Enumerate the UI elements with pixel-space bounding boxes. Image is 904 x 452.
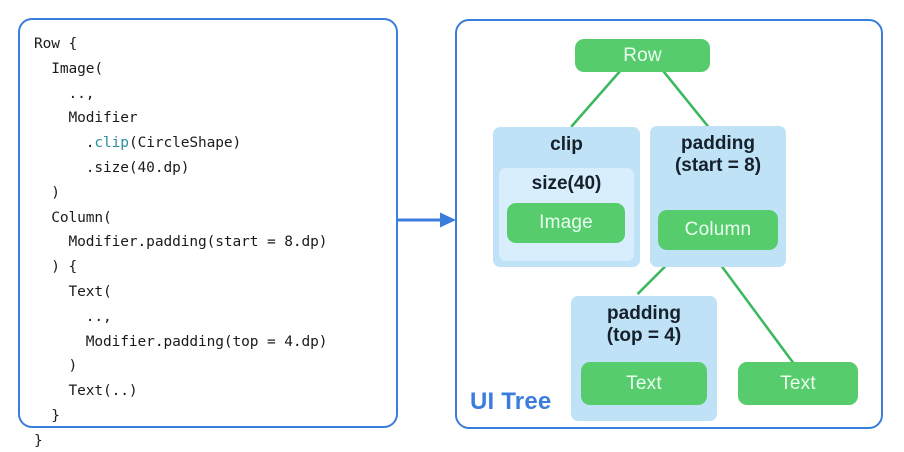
code-line: Text( xyxy=(34,280,390,305)
tree-node-size-modifier[interactable]: size(40) Image xyxy=(499,168,634,261)
code-line: Image( xyxy=(34,57,390,82)
code-panel: Row { Image( .., Modifier .clip(CircleSh… xyxy=(18,18,398,428)
tree-node-clip-label: clip xyxy=(550,134,583,156)
tree-node-text-plain[interactable]: Text xyxy=(738,362,858,405)
code-line: Column( xyxy=(34,206,390,231)
diagram-canvas: Row { Image( .., Modifier .clip(CircleSh… xyxy=(0,0,904,452)
tree-node-text-plain-label: Text xyxy=(780,373,816,395)
code-line: Row { xyxy=(34,32,390,57)
tree-node-text-padded-label: Text xyxy=(626,373,662,395)
code-line: .., xyxy=(34,82,390,107)
code-line: } xyxy=(34,429,390,452)
code-line: Modifier.padding(start = 8.dp) xyxy=(34,230,390,255)
tree-node-padding-start-label-1: padding xyxy=(681,133,755,155)
code-line: Modifier.padding(top = 4.dp) xyxy=(34,330,390,355)
tree-node-image[interactable]: Image xyxy=(507,203,625,243)
tree-node-row-label: Row xyxy=(623,45,662,67)
tree-node-padding-top-label-1: padding xyxy=(607,303,681,325)
code-line: .size(40.dp) xyxy=(34,156,390,181)
code-line: Text(..) xyxy=(34,379,390,404)
tree-node-padding-start-modifier[interactable]: padding (start = 8) Column xyxy=(650,126,786,267)
code-line: ) xyxy=(34,181,390,206)
code-line: ) { xyxy=(34,255,390,280)
code-line: .., xyxy=(34,305,390,330)
ui-tree-caption: UI Tree xyxy=(470,388,551,416)
code-line: } xyxy=(34,404,390,429)
tree-node-text-padded[interactable]: Text xyxy=(581,362,707,405)
tree-node-padding-start-label-2: (start = 8) xyxy=(675,155,761,177)
tree-node-image-label: Image xyxy=(539,212,593,234)
tree-node-padding-top-modifier[interactable]: padding (top = 4) Text xyxy=(571,296,717,421)
code-block: Row { Image( .., Modifier .clip(CircleSh… xyxy=(34,32,390,452)
code-token-highlight: clip xyxy=(94,135,129,151)
ui-tree-panel: Row clip size(40) Image padding (start =… xyxy=(455,19,883,429)
tree-node-padding-top-label-2: (top = 4) xyxy=(607,325,681,347)
code-line: Modifier xyxy=(34,106,390,131)
tree-node-row[interactable]: Row xyxy=(575,39,710,72)
tree-node-clip-modifier[interactable]: clip size(40) Image xyxy=(493,127,640,267)
tree-node-column-label: Column xyxy=(685,219,752,241)
arrow-right-icon xyxy=(396,209,458,231)
tree-node-size-label: size(40) xyxy=(532,173,602,195)
code-line: .clip(CircleShape) xyxy=(34,131,390,156)
tree-node-column[interactable]: Column xyxy=(658,210,778,250)
code-line: ) xyxy=(34,354,390,379)
